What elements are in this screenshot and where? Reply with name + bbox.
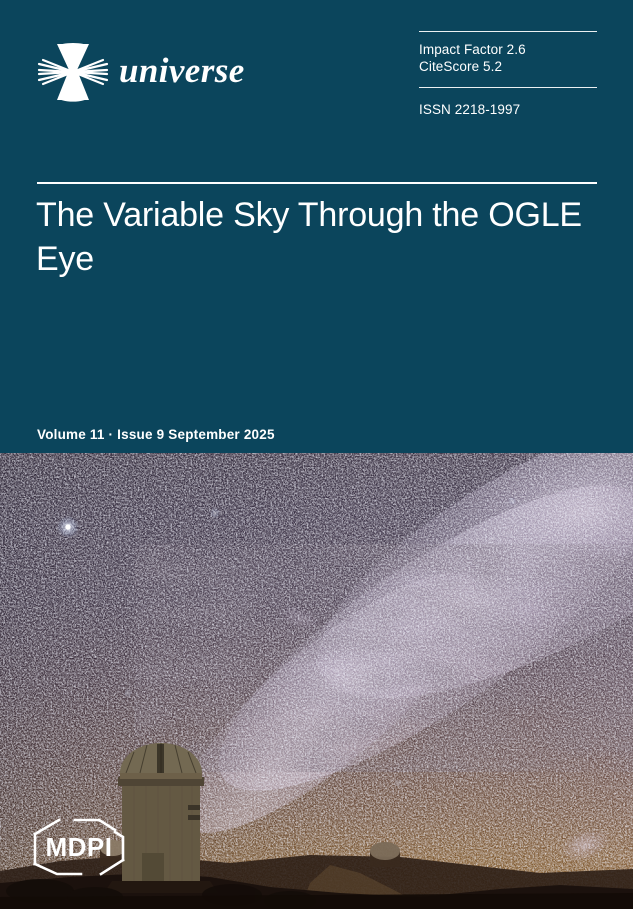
journal-cover: universe Impact Factor 2.6 CiteScore 5.2… — [0, 0, 633, 909]
cover-header: universe Impact Factor 2.6 CiteScore 5.2… — [0, 0, 633, 453]
volume-issue: Volume 11 · Issue 9 September 2025 — [37, 427, 275, 442]
journal-metrics: Impact Factor 2.6 CiteScore 5.2 ISSN 221… — [419, 31, 597, 118]
cite-score: CiteScore 5.2 — [419, 58, 597, 75]
page-title: The Variable Sky Through the OGLE Eye — [36, 193, 602, 281]
impact-factor: Impact Factor 2.6 — [419, 41, 597, 58]
issn: ISSN 2218-1997 — [419, 88, 597, 118]
journal-name: universe — [119, 53, 245, 92]
title-divider — [37, 182, 597, 184]
hourglass-star-icon — [37, 36, 109, 108]
mdpi-wordmark: MDPI — [46, 832, 113, 862]
mdpi-hexagon-icon: MDPI — [31, 818, 127, 876]
metrics-divider-top — [419, 31, 597, 32]
journal-brand: universe — [37, 36, 245, 108]
mdpi-logo: MDPI — [31, 818, 127, 876]
metrics-divider-bottom — [419, 87, 597, 88]
